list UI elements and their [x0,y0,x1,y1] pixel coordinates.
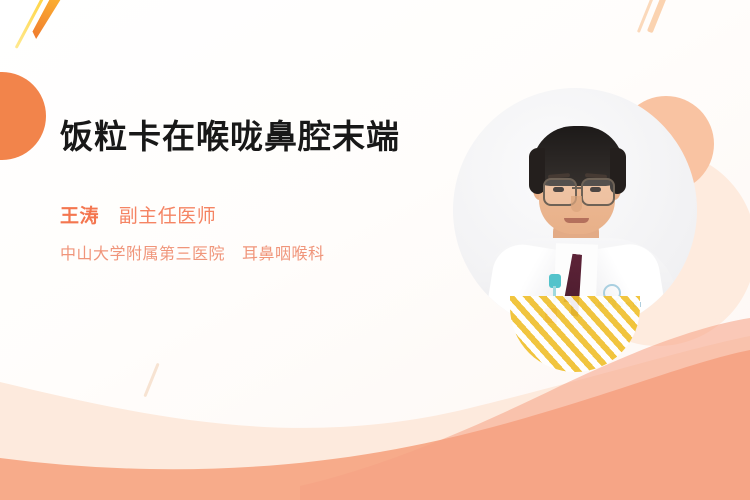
portrait-nose [571,196,582,212]
doctor-hospital: 中山大学附属第三医院 [60,246,225,263]
decor-wave-bottom [0,290,750,500]
doctor-content-card: 饭粒卡在喉咙鼻腔末端 王涛 副主任医师 中山大学附属第三医院 耳鼻咽喉科 [0,0,750,500]
doctor-department: 耳鼻咽喉科 [242,246,325,263]
doctor-credential-line: 王涛 副主任医师 [60,204,440,230]
doctor-name: 王涛 [60,206,99,227]
card-text-block: 饭粒卡在喉咙鼻腔末端 王涛 副主任医师 中山大学附属第三医院 耳鼻咽喉科 [60,116,440,266]
portrait-glasses-lens-right [581,178,615,206]
decor-stripe-top-right-a [637,0,656,33]
doctor-affiliation-line: 中山大学附属第三医院 耳鼻咽喉科 [60,244,440,266]
page-title: 饭粒卡在喉咙鼻腔末端 [60,116,440,158]
decor-stripe-yellow-top-left [15,0,49,49]
doctor-rank: 副主任医师 [119,206,217,227]
decor-wave-deep-overlay [300,318,750,500]
decor-circle-orange-left [0,72,46,160]
portrait-mouth [564,218,589,223]
decor-stripe-top-right-b [647,0,671,33]
portrait-glasses-bridge [572,187,582,189]
decor-stripe-orange-top-left [30,0,69,41]
